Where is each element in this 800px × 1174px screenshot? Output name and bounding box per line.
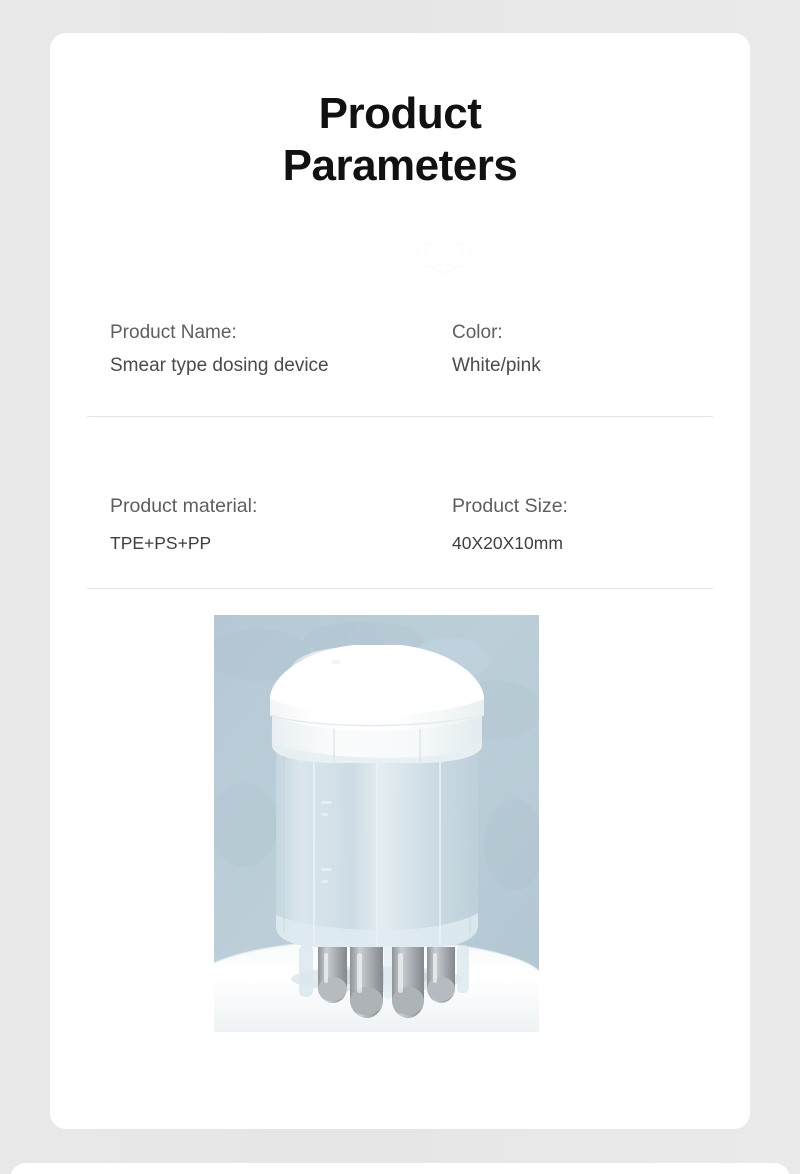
parameter-list: Product Name: Smear type dosing device C… <box>50 320 750 589</box>
floral-flourish-icon <box>384 236 504 280</box>
smear-type-dosing-device-photo <box>214 615 539 1032</box>
parameter-product-size: Product Size: 40X20X10mm <box>395 493 750 589</box>
next-section-card-peek <box>10 1163 790 1174</box>
parameter-label: Product Size: <box>452 493 750 519</box>
parameter-label: Product Name: <box>110 320 395 346</box>
parameter-label: Product material: <box>110 493 395 519</box>
page-title: Product Parameters <box>50 88 750 192</box>
row-divider <box>87 416 713 417</box>
page-title-line-2: Parameters <box>50 140 750 192</box>
parameter-color: Color: White/pink <box>395 320 750 417</box>
parameter-row: Product Name: Smear type dosing device C… <box>50 320 750 417</box>
parameter-product-name: Product Name: Smear type dosing device <box>50 320 395 417</box>
product-parameters-card: Product Parameters Product Name: <box>50 33 750 1129</box>
parameter-value: White/pink <box>452 353 750 379</box>
parameter-product-material: Product material: TPE+PS+PP <box>50 493 395 589</box>
parameter-value: Smear type dosing device <box>110 353 395 379</box>
parameter-row: Product material: TPE+PS+PP Product Size… <box>50 493 750 589</box>
page-title-line-1: Product <box>50 88 750 140</box>
parameter-label: Color: <box>452 320 750 346</box>
parameter-value: TPE+PS+PP <box>110 530 395 556</box>
row-divider <box>87 588 713 589</box>
parameter-value: 40X20X10mm <box>452 530 750 556</box>
